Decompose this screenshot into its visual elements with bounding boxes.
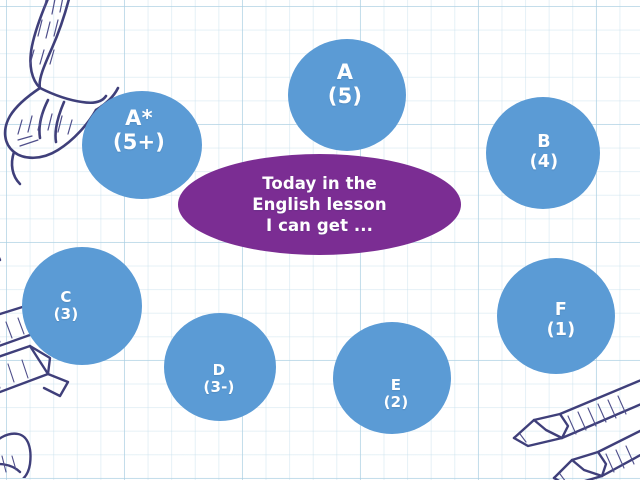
grade-bubble-b-label: B(4) [524, 133, 565, 172]
grade-bubble-b-score: (4) [530, 153, 559, 173]
grade-bubble-c-grade: C [54, 289, 79, 306]
grade-bubble-d-label: D(3-) [197, 362, 240, 396]
grade-bubble-e-grade: E [384, 377, 409, 394]
grade-bubble-f[interactable]: F(1) [497, 258, 615, 374]
grade-bubble-d-score: (3-) [203, 379, 234, 396]
grade-bubble-a-label: A(5) [322, 61, 368, 108]
grade-bubble-c-label: C(3) [48, 289, 85, 323]
grade-bubble-f-label: F(1) [541, 301, 582, 340]
grade-bubble-a-grade: A [328, 61, 362, 85]
grade-bubble-a-score: (5) [328, 85, 362, 109]
center-prompt-bubble: Today in the English lesson I can get ..… [178, 154, 461, 255]
grade-bubble-astar-label: A*(5+) [107, 107, 171, 154]
grade-bubble-d[interactable]: D(3-) [164, 313, 276, 421]
grade-bubble-c-score: (3) [54, 306, 79, 323]
grade-bubble-f-score: (1) [547, 321, 576, 341]
grade-bubble-astar-grade: A* [113, 107, 165, 131]
grade-bubble-b[interactable]: B(4) [486, 97, 600, 209]
grade-bubble-b-grade: B [530, 133, 559, 153]
grade-bubble-e-label: E(2) [378, 377, 415, 411]
grade-bubble-d-grade: D [203, 362, 234, 379]
grade-bubble-e-score: (2) [384, 394, 409, 411]
grade-bubble-astar-score: (5+) [113, 131, 165, 155]
center-prompt-text: Today in the English lesson I can get ..… [246, 173, 392, 236]
slide-canvas: A*(5+) A(5) B(4) C(3) D(3-) E(2) F(1) To… [0, 0, 640, 480]
grade-bubble-f-grade: F [547, 301, 576, 321]
grade-bubble-a[interactable]: A(5) [288, 39, 406, 151]
grade-bubble-e[interactable]: E(2) [333, 322, 451, 434]
grade-bubble-astar[interactable]: A*(5+) [82, 91, 202, 199]
grade-bubble-c[interactable]: C(3) [22, 247, 142, 365]
